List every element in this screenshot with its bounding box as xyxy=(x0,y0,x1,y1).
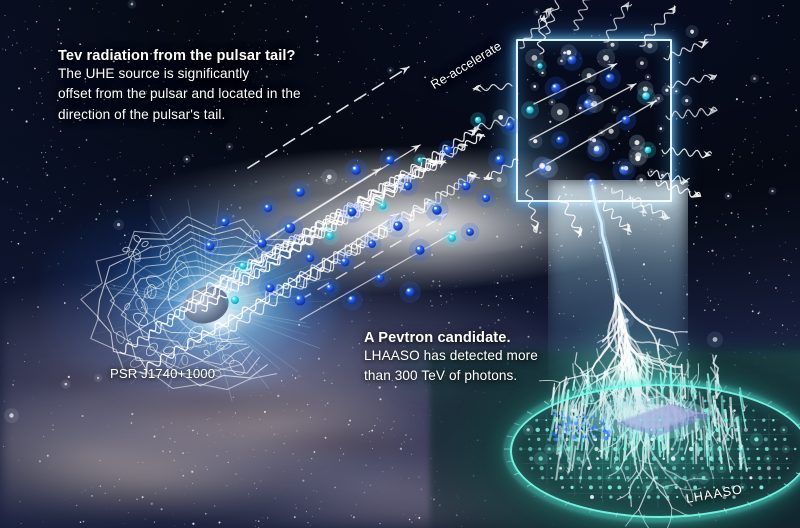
pulsar-core-flare xyxy=(196,292,266,344)
lhaaso-outer-ring xyxy=(504,380,800,522)
illustration-canvas: Tev radiation from the pulsar tail? The … xyxy=(0,0,800,528)
annotation-pulsar-tail-line-2: offset from the pulsar and located in th… xyxy=(58,84,358,104)
pulsar-neutron-star xyxy=(179,281,233,328)
re-accelerate-label: Re-accelerate xyxy=(428,39,504,92)
annotation-pulsar-tail-line-1: The UHE source is significantly xyxy=(58,64,358,84)
primary-photon-beam xyxy=(548,180,688,430)
uhe-source-detection-box xyxy=(516,39,672,202)
detection-box-glow xyxy=(498,22,688,218)
annotation-pulsar-tail-line-3: direction of the pulsar's tail. xyxy=(58,105,358,125)
lhaaso-boundary-ring xyxy=(510,384,800,518)
annotation-pulsar-tail-heading: Tev radiation from the pulsar tail? xyxy=(58,48,358,64)
annotation-pevtron-heading: A Pevtron candidate. xyxy=(364,330,624,346)
annotation-pevtron-line-2: than 300 TeV of photons. xyxy=(364,366,624,386)
pulsar-name-label: PSR J1740+1000 xyxy=(110,366,215,381)
annotation-pevtron-line-1: LHAASO has detected more xyxy=(364,346,624,366)
annotation-pulsar-tail: Tev radiation from the pulsar tail? The … xyxy=(58,48,358,125)
annotation-pevtron: A Pevtron candidate. LHAASO has detected… xyxy=(364,330,624,387)
pulsar-tail-core xyxy=(200,150,580,300)
lhaaso-array-disk xyxy=(512,386,800,512)
lhaaso-label: LHAASO xyxy=(685,482,744,506)
